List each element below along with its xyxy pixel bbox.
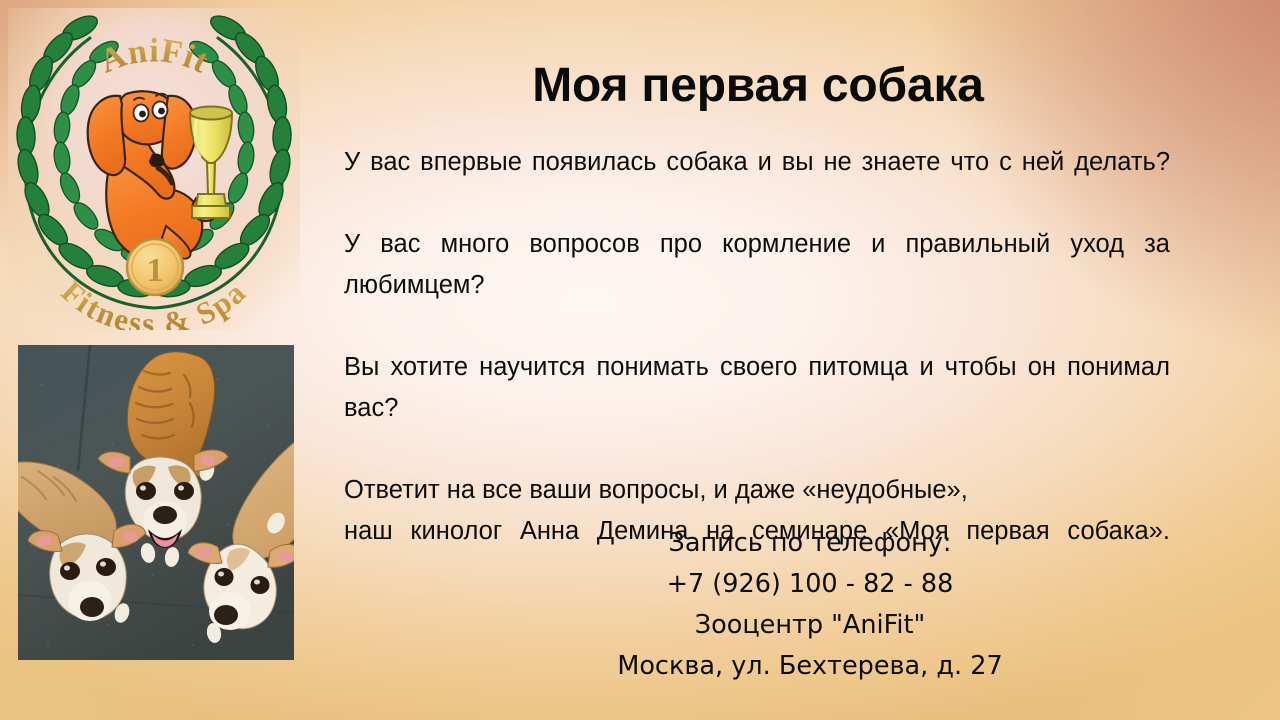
body-paragraph-4: Ответит на все ваши вопросы, и даже «неу… — [344, 470, 1170, 511]
dogs-photo — [18, 345, 294, 660]
contact-block: Запись по телефону: +7 (926) 100 - 82 - … — [440, 523, 1180, 687]
slide-canvas: 1 AniFit Fitness & Spa — [0, 0, 1280, 720]
contact-line-phone[interactable]: +7 (926) 100 - 82 - 88 — [440, 564, 1180, 605]
body-paragraph-3: Вы хотите научится понимать своего питом… — [344, 347, 1170, 470]
page-title: Моя первая собака — [330, 58, 1186, 113]
body-paragraph-1: У вас впервые появилась собака и вы не з… — [344, 142, 1170, 224]
contact-line-address: Москва, ул. Бехтерева, д. 27 — [440, 646, 1180, 687]
medal-number: 1 — [147, 252, 164, 289]
body-paragraph-2: У вас много вопросов про кормление и пра… — [344, 224, 1170, 347]
anifit-logo: 1 AniFit Fitness & Spa — [8, 8, 300, 330]
contact-line-center: Зооцентр "AniFit" — [440, 605, 1180, 646]
medal-badge: 1 — [127, 239, 183, 295]
contact-line-booking: Запись по телефону: — [440, 523, 1180, 564]
